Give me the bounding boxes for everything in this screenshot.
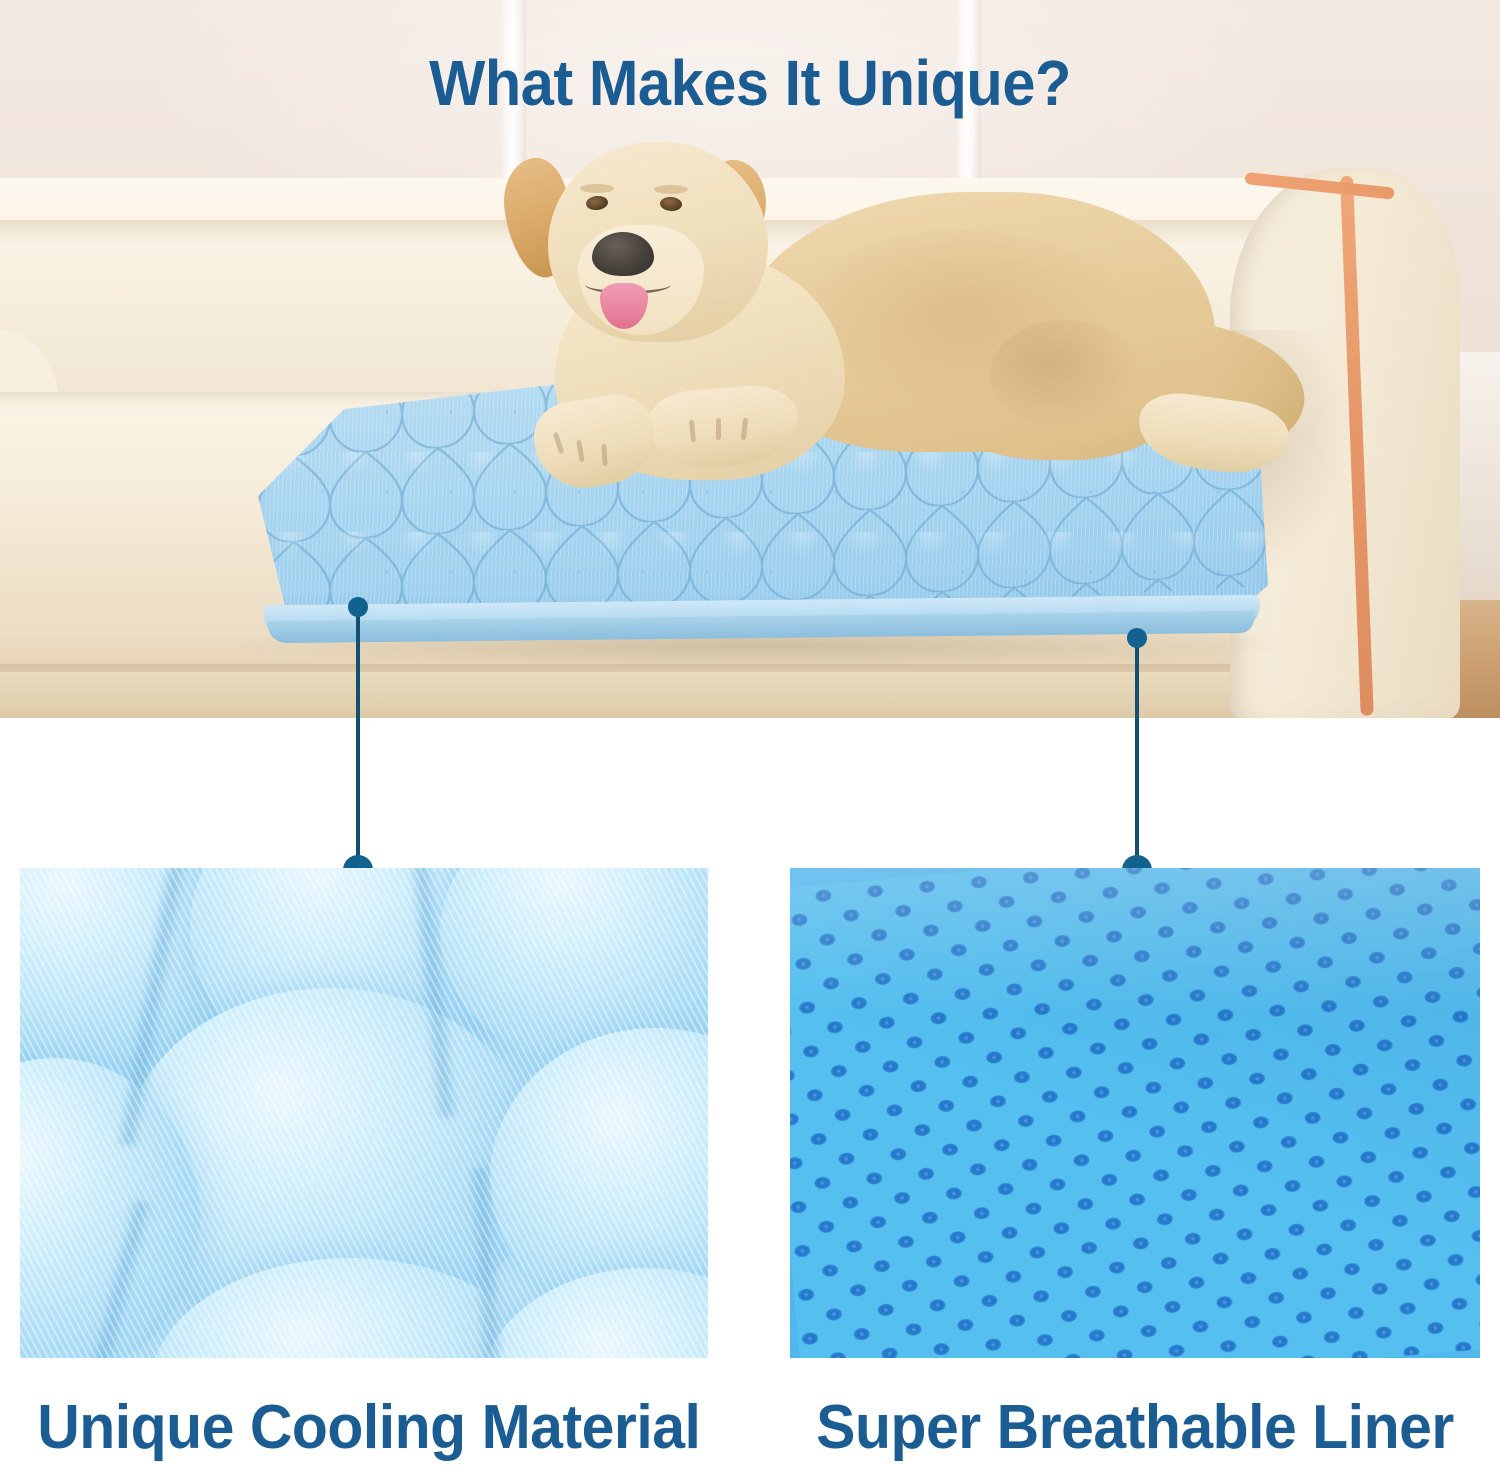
dog-paw-front-left [528,388,661,496]
detail-image-breathable-liner [790,868,1480,1358]
dog-toe [716,418,721,440]
detail-image-cooling-material [20,868,708,1358]
caption-breathable-liner: Super Breathable Liner [807,1392,1463,1463]
mesh-lighting [790,868,1480,1358]
dog-brow-left [580,184,614,193]
caption-cooling-material: Unique Cooling Material [37,1392,691,1463]
callout-line-breathable-liner [1135,638,1139,870]
callout-line-cooling-material [356,607,360,870]
hero-photo: What Makes It Unique? [0,0,1500,718]
infographic-page: What Makes It Unique? Unique Cooling Mat… [0,0,1500,1466]
callout-anchor-dot-cooling-material [348,597,368,617]
dog-brow-right [654,185,688,194]
callout-anchor-dot-breathable-liner [1127,628,1147,648]
page-title: What Makes It Unique? [53,46,1448,120]
dog-nose [592,232,654,276]
cooling-fabric-rib-texture [20,868,708,1358]
